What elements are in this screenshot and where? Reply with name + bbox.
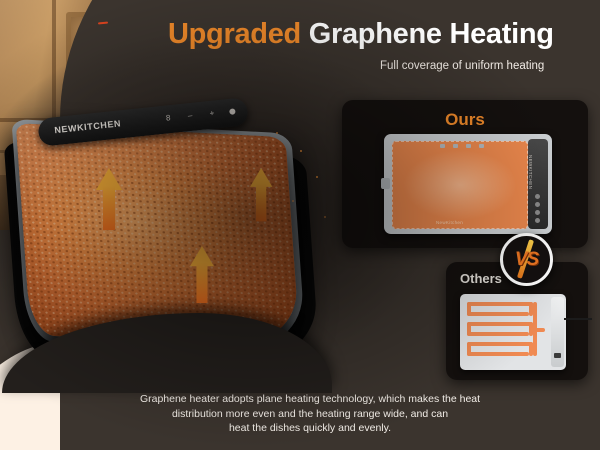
power-button-icon[interactable] [229, 108, 236, 115]
control-buttons-group[interactable]: 8 – + [163, 105, 236, 123]
caption-line-3: heat the dishes quickly and evenly. [110, 421, 510, 436]
page-title: Upgraded Graphene Heating [168, 18, 554, 51]
device-control-icon [440, 144, 445, 148]
power-cord [564, 318, 592, 320]
device-control-strip [551, 297, 564, 367]
arrow-shaft [196, 263, 207, 303]
product-marketing-image: Upgraded Graphene Heating Full coverage … [0, 0, 600, 450]
device-top-controls [440, 144, 484, 148]
minus-button-icon[interactable]: – [185, 110, 195, 122]
arrow-shaft [256, 183, 266, 221]
device-side-brand-text: NEWKITCHEN [528, 155, 533, 189]
graphene-heating-mat [8, 108, 318, 368]
arrow-shaft [103, 186, 115, 230]
spark-particle [300, 150, 302, 152]
comparison-panel-ours: Ours NewKitchen NEWKITCHEN [342, 100, 588, 248]
coil-lead [533, 328, 545, 332]
coil-segment [467, 332, 529, 336]
vs-badge-text: VS [503, 236, 550, 283]
device-side-buttons [535, 194, 540, 223]
device-control-icon [479, 144, 484, 148]
coil-segment [467, 322, 533, 326]
heat-glow [393, 142, 527, 228]
side-button-icon [535, 210, 540, 215]
device-control-icon [466, 144, 471, 148]
others-heating-device [460, 294, 566, 370]
caption-line-2: distribution more even and the heating r… [110, 407, 510, 422]
spark-particle [316, 176, 318, 178]
vs-badge: VS [500, 233, 553, 286]
others-label: Others [460, 271, 502, 286]
spark-particle [292, 200, 294, 202]
device-switch-icon [554, 353, 561, 358]
ours-uniform-heat-area [392, 141, 528, 229]
description-caption: Graphene heater adopts plane heating tec… [110, 392, 510, 436]
spark-particle [276, 132, 278, 134]
device-side-panel: NEWKITCHEN [528, 139, 548, 229]
caption-line-1: Graphene heater adopts plane heating tec… [110, 392, 510, 407]
device-control-icon [453, 144, 458, 148]
side-button-icon [535, 202, 540, 207]
title-rest: Graphene Heating [301, 18, 554, 50]
brand-label: NEWKITCHEN [54, 118, 122, 135]
title-highlight: Upgraded [168, 18, 301, 50]
coil-segment [467, 342, 533, 346]
device-logo: NewKitchen [436, 220, 463, 225]
page-subtitle: Full coverage of uniform heating [380, 60, 544, 72]
ours-label: Ours [342, 110, 588, 130]
spark-particle [324, 216, 326, 218]
serpentine-heating-coil [467, 302, 541, 362]
digit-display-icon[interactable]: 8 [163, 112, 173, 124]
coil-segment [467, 312, 529, 316]
side-button-icon [535, 194, 540, 199]
coil-segment [467, 302, 533, 306]
side-button-icon [535, 218, 540, 223]
ours-heating-mat-device: NewKitchen NEWKITCHEN [384, 134, 552, 234]
plus-button-icon[interactable]: + [207, 107, 217, 119]
coil-segment [467, 352, 529, 356]
device-side-knob [381, 178, 390, 189]
